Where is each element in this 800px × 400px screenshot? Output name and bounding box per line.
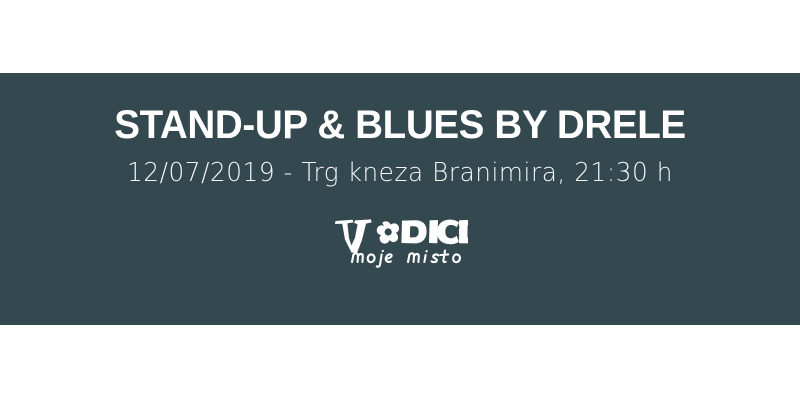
logo-wordmark bbox=[332, 219, 468, 253]
banner-canvas: STAND-UP & BLUES BY DRELE 12/07/2019 - T… bbox=[0, 0, 800, 400]
event-banner: STAND-UP & BLUES BY DRELE 12/07/2019 - T… bbox=[0, 73, 800, 325]
vodice-logo: VODICE moje misto bbox=[332, 219, 468, 273]
logo-tagline-svg bbox=[350, 246, 468, 268]
event-subtitle: 12/07/2019 - Trg kneza Branimira, 21:30 … bbox=[20, 157, 780, 189]
banner-content: STAND-UP & BLUES BY DRELE 12/07/2019 - T… bbox=[0, 73, 800, 325]
event-title: STAND-UP & BLUES BY DRELE bbox=[14, 102, 786, 148]
